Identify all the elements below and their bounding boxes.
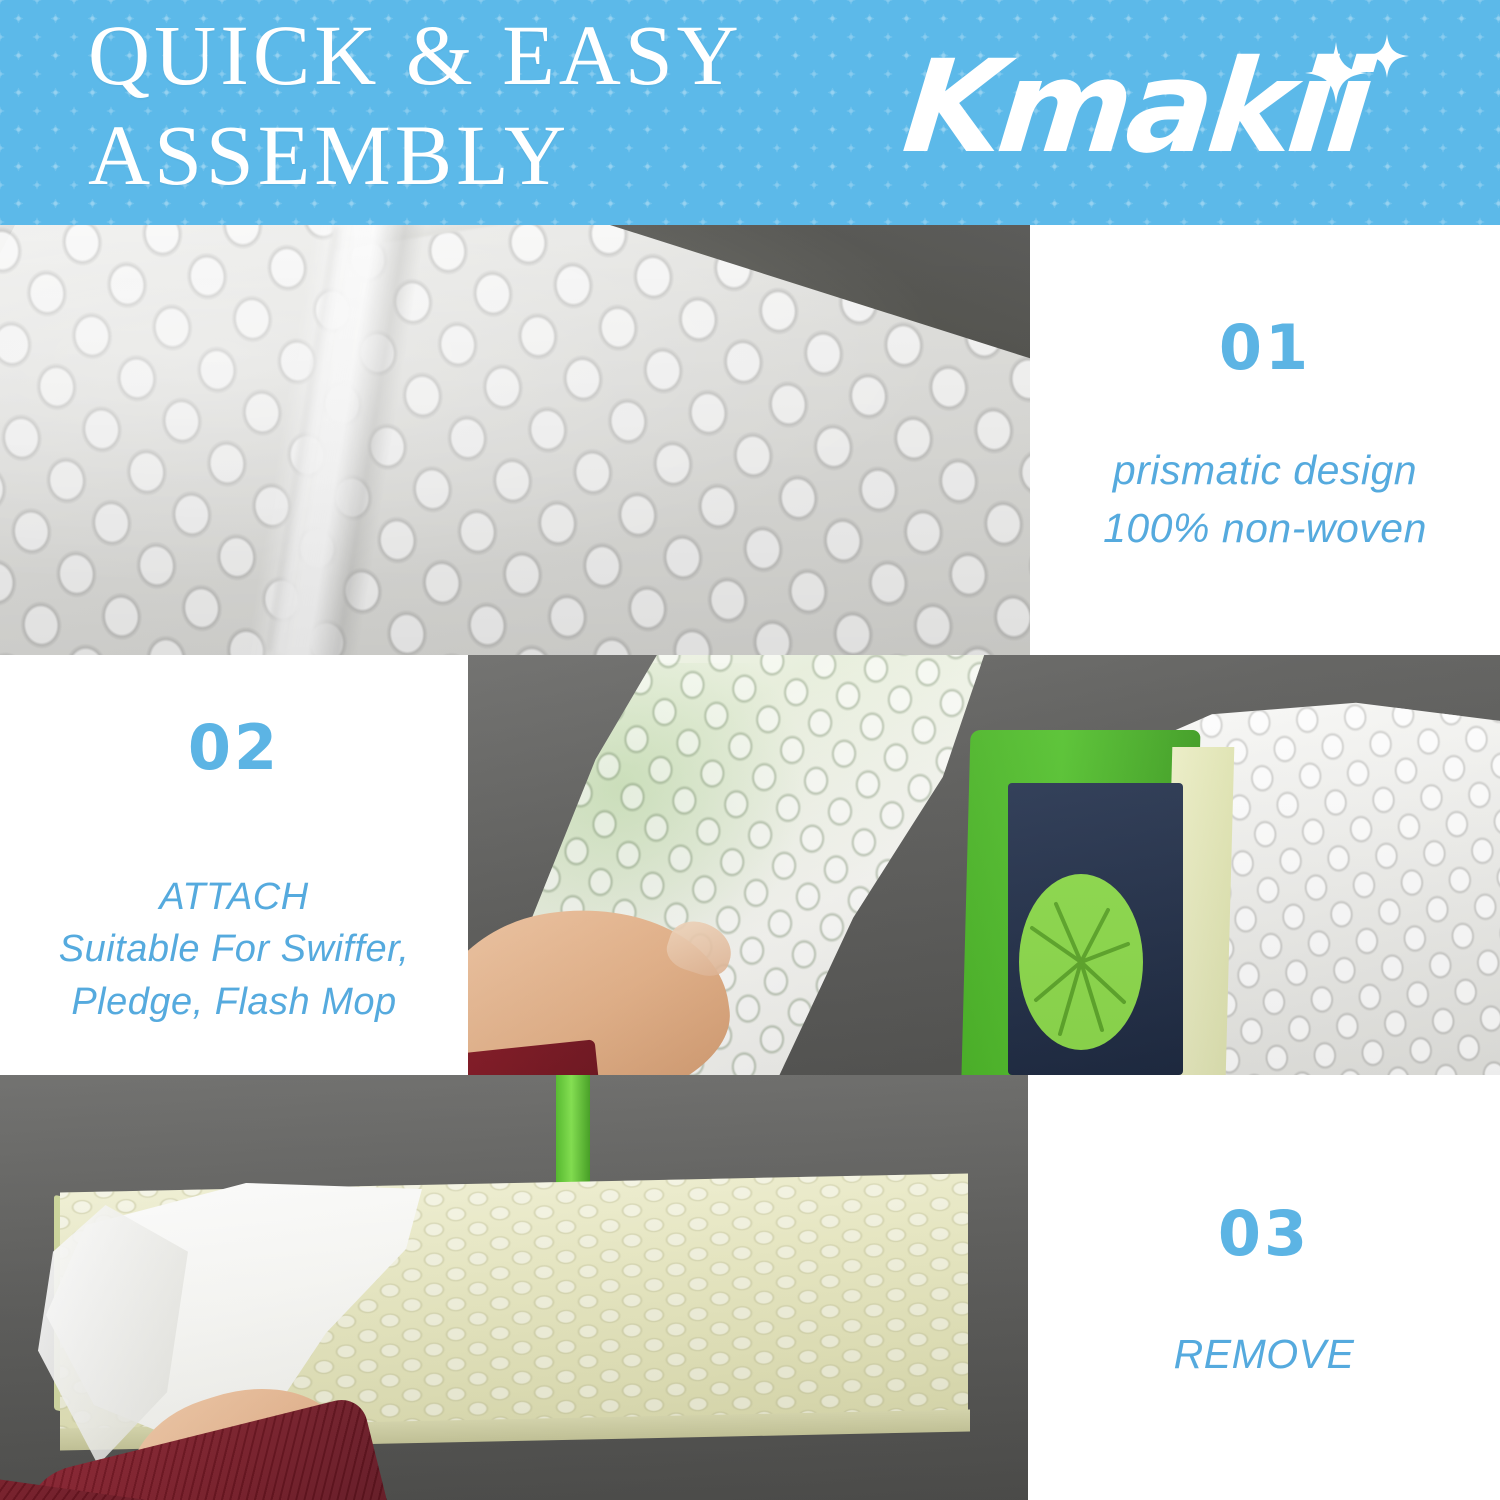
step-row-2: 02 ATTACH Suitable For Swiffer, Pledge, … (0, 655, 1500, 1075)
step-1-text: prismatic design 100% non-woven (1030, 441, 1500, 557)
sparkle-star-icon (1305, 42, 1367, 104)
step-1-line-2: 100% non-woven (1030, 499, 1500, 557)
product-infographic: QUICK & EASY ASSEMBLY Kmakii 0 (0, 0, 1500, 1500)
brand-logo-text: Kmakii (898, 38, 1375, 178)
brand-logo: Kmakii (905, 38, 1445, 178)
sparkle-star-small-icon (1365, 34, 1409, 78)
mop-handle-green (556, 1075, 590, 1199)
step-row-1: 01 prismatic design 100% non-woven (0, 225, 1500, 655)
step-2-number: 02 (0, 717, 468, 779)
step-row-3: 03 REMOVE (0, 1075, 1500, 1500)
step-1-caption: 01 prismatic design 100% non-woven (1030, 225, 1500, 655)
step-2-line-2: Suitable For Swiffer, (0, 923, 468, 975)
step-2-caption: 02 ATTACH Suitable For Swiffer, Pledge, … (0, 655, 468, 1075)
step-2-line-3: Pledge, Flash Mop (0, 976, 468, 1028)
step-3-number: 03 (1028, 1203, 1500, 1265)
page-title-line1: QUICK & EASY (88, 6, 918, 106)
mop-gripper-icon (1016, 870, 1146, 1055)
step-1-photo (0, 225, 1030, 655)
step-2-text: ATTACH Suitable For Swiffer, Pledge, Fla… (0, 871, 468, 1028)
step-2-line-1: ATTACH (0, 871, 468, 923)
page-title-line2: ASSEMBLY (88, 106, 918, 206)
step-3-caption: 03 REMOVE (1028, 1075, 1500, 1500)
step-3-text: REMOVE (1028, 1325, 1500, 1383)
step-3-photo (0, 1075, 1028, 1500)
step-1-line-1: prismatic design (1030, 441, 1500, 499)
step-3-line-1: REMOVE (1028, 1325, 1500, 1383)
header-banner: QUICK & EASY ASSEMBLY Kmakii (0, 0, 1500, 225)
page-title: QUICK & EASY ASSEMBLY (88, 6, 918, 206)
step-1-number: 01 (1030, 317, 1500, 379)
step-2-photo (468, 655, 1500, 1075)
